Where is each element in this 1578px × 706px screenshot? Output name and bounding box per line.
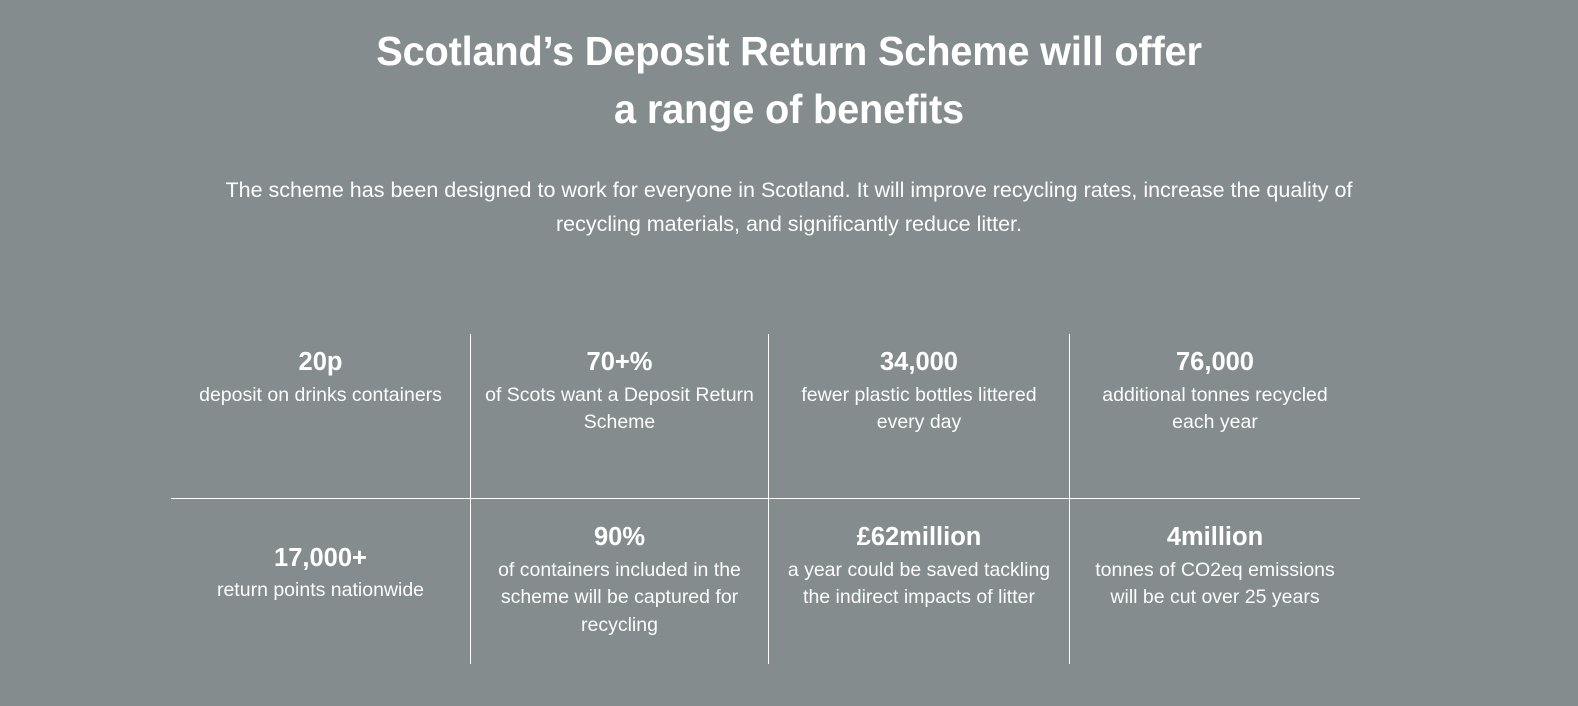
benefits-page: Scotland’s Deposit Return Scheme will of…	[0, 0, 1578, 706]
page-title: Scotland’s Deposit Return Scheme will of…	[294, 22, 1283, 138]
stat-cell-capture-rate: 90% of containers included in the scheme…	[470, 499, 768, 664]
stat-value: 34,000	[880, 348, 958, 378]
page-header: Scotland’s Deposit Return Scheme will of…	[0, 0, 1578, 242]
stat-label: return points nationwide	[217, 577, 424, 605]
statistics-grid: 20p deposit on drinks containers 70+% of…	[171, 334, 1360, 664]
stat-value: 90%	[594, 523, 645, 553]
stat-label: of Scots want a Deposit Return Scheme	[483, 382, 756, 437]
stat-label: a year could be saved tackling the indir…	[781, 557, 1057, 612]
stat-label: fewer plastic bottles littered every day	[781, 382, 1057, 437]
stat-value: 70+%	[587, 348, 653, 378]
stat-cell-bottles-littered: 34,000 fewer plastic bottles littered ev…	[768, 334, 1069, 498]
stat-label: of containers included in the scheme wil…	[483, 557, 756, 640]
stat-value: 17,000+	[274, 544, 367, 574]
stat-cell-emissions-cut: 4million tonnes of CO2eq emissions will …	[1069, 499, 1360, 664]
stat-value: £62million	[857, 523, 982, 553]
stat-cell-return-points: 17,000+ return points nationwide	[171, 499, 470, 664]
stat-cell-deposit: 20p deposit on drinks containers	[171, 334, 470, 498]
stat-cell-public-support: 70+% of Scots want a Deposit Return Sche…	[470, 334, 768, 498]
stat-cell-litter-savings: £62million a year could be saved tacklin…	[768, 499, 1069, 664]
page-subtitle: The scheme has been designed to work for…	[199, 174, 1379, 242]
statistics-row-1: 20p deposit on drinks containers 70+% of…	[171, 334, 1360, 499]
page-title-line-2: a range of benefits	[614, 86, 964, 132]
statistics-row-2: 17,000+ return points nationwide 90% of …	[171, 499, 1360, 664]
stat-cell-tonnes-recycled: 76,000 additional tonnes recycled each y…	[1069, 334, 1360, 498]
stat-value: 76,000	[1176, 348, 1254, 378]
stat-label: additional tonnes recycled each year	[1082, 382, 1348, 437]
stat-value: 20p	[299, 348, 343, 378]
stat-label: deposit on drinks containers	[199, 382, 442, 410]
stat-value: 4million	[1167, 523, 1263, 553]
page-title-line-1: Scotland’s Deposit Return Scheme will of…	[376, 28, 1202, 74]
stat-label: tonnes of CO2eq emissions will be cut ov…	[1082, 557, 1348, 612]
